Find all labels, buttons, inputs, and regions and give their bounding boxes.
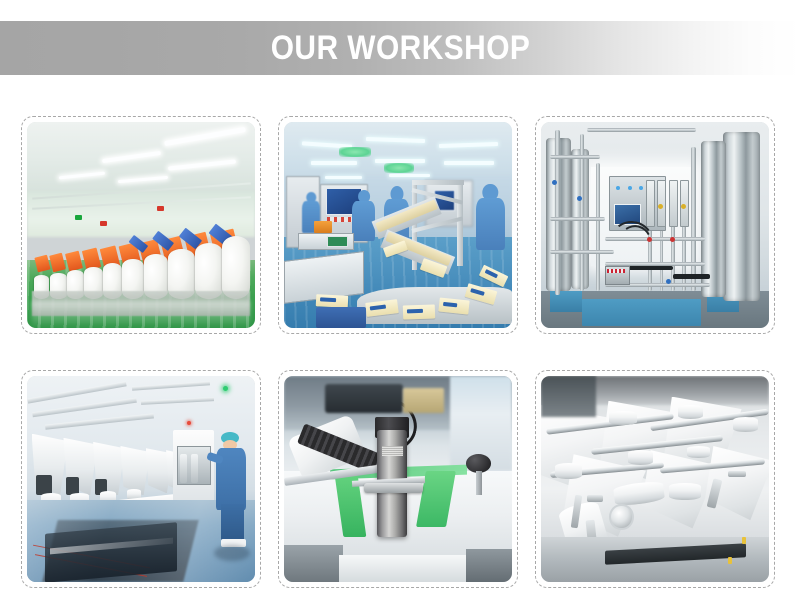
warning-label bbox=[728, 557, 732, 564]
horizontal-pipe bbox=[550, 217, 605, 221]
floor-glare bbox=[32, 301, 251, 328]
roller bbox=[678, 405, 703, 419]
blue-floor-mat bbox=[582, 299, 701, 326]
sensor-collar bbox=[364, 483, 423, 493]
ceiling-lamp bbox=[325, 176, 361, 179]
flow-meter bbox=[680, 180, 689, 227]
signal-light bbox=[75, 215, 82, 220]
winding-machine-row bbox=[32, 229, 251, 299]
machine-rod bbox=[180, 454, 187, 483]
gallery-tile-4[interactable] bbox=[21, 370, 261, 588]
ceiling-lamp bbox=[389, 174, 430, 177]
workshop-photo-cleanroom-line bbox=[284, 122, 512, 328]
worker-legs bbox=[221, 504, 244, 541]
signal-light bbox=[100, 221, 107, 226]
blue-tray bbox=[316, 307, 366, 328]
roller bbox=[669, 483, 701, 499]
terminal-strip bbox=[607, 269, 625, 273]
machine-opening bbox=[36, 475, 52, 496]
workshop-photo-folding-machine bbox=[541, 376, 769, 582]
foreground-edge bbox=[284, 545, 343, 582]
horizontal-pipe bbox=[587, 128, 696, 132]
gallery-tile-5[interactable] bbox=[278, 370, 518, 588]
workshop-photo-packaging-line bbox=[27, 376, 255, 582]
upper-dark-machine bbox=[325, 384, 403, 413]
upper-dark-area bbox=[541, 376, 596, 417]
workshop-photo-winding-machines bbox=[27, 122, 255, 328]
adjustment-handle[interactable] bbox=[587, 495, 603, 501]
ceiling-lamp bbox=[311, 161, 357, 165]
product-box bbox=[402, 305, 434, 321]
gallery-tile-2[interactable] bbox=[278, 116, 518, 334]
worker bbox=[352, 190, 375, 242]
flow-meter bbox=[669, 180, 678, 227]
gallery-tile-6[interactable] bbox=[535, 370, 775, 588]
roller bbox=[609, 411, 636, 425]
ceiling-lamp bbox=[444, 161, 494, 165]
scale-display bbox=[327, 236, 347, 246]
workshop-photo-water-treatment bbox=[541, 122, 769, 328]
roller bbox=[555, 463, 582, 479]
adjustment-wheel[interactable] bbox=[609, 504, 634, 531]
horizontal-pipe bbox=[550, 250, 614, 254]
signal-light bbox=[157, 206, 164, 211]
pressure-tank bbox=[723, 132, 759, 301]
workshop-photo-gallery bbox=[21, 116, 775, 588]
status-light-red bbox=[187, 421, 191, 425]
exit-sign bbox=[384, 163, 414, 173]
adjustment-handle[interactable] bbox=[728, 471, 746, 477]
sensor-label bbox=[382, 446, 403, 456]
worker bbox=[476, 184, 506, 250]
horizontal-pipe bbox=[550, 155, 600, 159]
exit-sign bbox=[339, 147, 371, 157]
page-title: OUR WORKSHOP bbox=[270, 31, 530, 65]
page-header-banner: OUR WORKSHOP bbox=[0, 21, 800, 75]
conveyor-frame bbox=[457, 180, 463, 267]
deck-front-edge bbox=[339, 555, 467, 582]
workshop-photo-sensor-closeup bbox=[284, 376, 512, 582]
vertical-pipe bbox=[691, 147, 696, 291]
roller bbox=[628, 450, 653, 464]
cardboard-part bbox=[403, 388, 444, 413]
roller bbox=[687, 446, 710, 458]
gallery-tile-1[interactable] bbox=[21, 116, 261, 334]
black-hose bbox=[673, 274, 709, 278]
product-box bbox=[316, 294, 349, 308]
flow-meter bbox=[646, 180, 655, 227]
gallery-tile-3[interactable] bbox=[535, 116, 775, 334]
orange-part bbox=[314, 221, 332, 233]
roller bbox=[733, 417, 758, 431]
foreground-edge bbox=[466, 549, 512, 582]
vertical-pipe bbox=[596, 163, 601, 291]
warning-label bbox=[742, 537, 746, 544]
conveyor-frame bbox=[412, 180, 464, 185]
flow-meter bbox=[657, 180, 666, 227]
machine-rod bbox=[191, 454, 198, 483]
knob-stem bbox=[476, 471, 483, 496]
